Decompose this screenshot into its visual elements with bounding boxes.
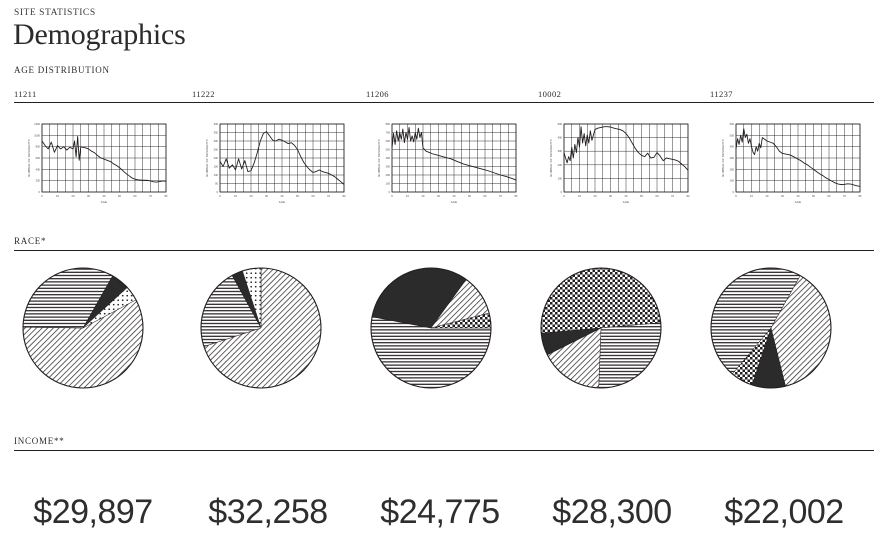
svg-text:70: 70 [843,194,846,198]
svg-text:40: 40 [625,194,628,198]
svg-text:70: 70 [671,194,674,198]
svg-text:0: 0 [219,194,221,198]
svg-text:0: 0 [735,194,737,198]
zip-header-1: 11222 [192,89,215,99]
income-value-10002: $28,300 [527,492,697,532]
svg-text:0: 0 [561,190,563,194]
svg-text:30: 30 [781,194,784,198]
divider-race [14,250,874,251]
svg-text:0: 0 [217,190,219,194]
svg-text:70: 70 [499,194,502,198]
income-value-11211: $29,897 [8,492,178,532]
section-label-race: RACE* [14,236,46,246]
svg-text:300: 300 [214,139,219,143]
svg-text:NUMBER OF RESIDENTS: NUMBER OF RESIDENTS [27,139,31,176]
zip-header-3: 10002 [538,89,561,99]
svg-text:20: 20 [422,194,425,198]
svg-text:50: 50 [215,182,218,186]
svg-text:80: 80 [343,194,346,198]
section-label-income: INCOME** [14,436,65,446]
income-value-11206: $24,775 [355,492,525,532]
svg-text:30: 30 [265,194,268,198]
svg-text:20: 20 [72,194,75,198]
svg-text:150: 150 [214,165,219,169]
svg-text:10: 10 [56,194,59,198]
demographics-page: SITE STATISTICS Demographics AGE DISTRIB… [0,0,888,555]
age-chart-11211: 02004006008001000120001020304050607080AG… [12,118,172,218]
svg-text:300: 300 [558,149,563,153]
svg-text:30: 30 [437,194,440,198]
svg-text:250: 250 [214,148,219,152]
svg-text:0: 0 [389,190,391,194]
race-pie-11206 [365,262,525,394]
svg-text:AGE: AGE [623,200,630,204]
svg-text:20: 20 [766,194,769,198]
svg-text:NUMBER OF RESIDENTS: NUMBER OF RESIDENTS [721,139,725,176]
svg-text:0: 0 [733,190,735,194]
svg-text:60: 60 [656,194,659,198]
svg-text:400: 400 [558,136,563,140]
svg-text:30: 30 [609,194,612,198]
zip-header-2: 11206 [366,89,389,99]
svg-text:10: 10 [234,194,237,198]
svg-text:100: 100 [730,179,735,183]
svg-text:300: 300 [730,156,735,160]
svg-text:200: 200 [386,173,391,177]
svg-text:80: 80 [165,194,168,198]
race-pie-10002 [535,262,695,394]
svg-text:200: 200 [214,156,219,160]
svg-text:800: 800 [386,122,391,126]
svg-text:NUMBER OF RESIDENTS: NUMBER OF RESIDENTS [205,139,209,176]
income-value-11222: $32,258 [183,492,353,532]
age-chart-11222: 0501001502002503003504000102030405060708… [190,118,350,218]
svg-text:60: 60 [828,194,831,198]
svg-text:50: 50 [640,194,643,198]
page-title: Demographics [13,18,186,52]
svg-text:AGE: AGE [795,200,802,204]
svg-text:70: 70 [149,194,152,198]
svg-text:AGE: AGE [101,200,108,204]
svg-text:500: 500 [558,122,563,126]
svg-text:50: 50 [812,194,815,198]
divider-income [14,450,874,451]
svg-text:50: 50 [118,194,121,198]
svg-text:300: 300 [386,165,391,169]
svg-text:80: 80 [515,194,518,198]
svg-text:700: 700 [386,131,391,135]
svg-text:500: 500 [386,148,391,152]
svg-text:100: 100 [386,182,391,186]
age-chart-11206: 0100200300400500600700800010203040506070… [362,118,522,218]
race-pie-11237 [705,262,865,394]
svg-text:0: 0 [41,194,43,198]
svg-text:600: 600 [36,156,41,160]
svg-text:AGE: AGE [451,200,458,204]
svg-text:30: 30 [87,194,90,198]
svg-text:80: 80 [859,194,862,198]
svg-text:40: 40 [797,194,800,198]
svg-text:40: 40 [281,194,284,198]
svg-text:NUMBER OF RESIDENTS: NUMBER OF RESIDENTS [377,139,381,176]
svg-text:800: 800 [36,145,41,149]
svg-text:600: 600 [730,122,735,126]
svg-text:400: 400 [36,167,41,171]
svg-text:50: 50 [468,194,471,198]
svg-text:0: 0 [391,194,393,198]
svg-text:60: 60 [484,194,487,198]
age-chart-11237: 010020030040050060001020304050607080AGEN… [706,118,866,218]
income-value-11237: $22,002 [699,492,869,532]
age-chart-10002: 010020030040050001020304050607080AGENUMB… [534,118,694,218]
svg-text:400: 400 [214,122,219,126]
race-pie-11211 [17,262,177,394]
svg-text:50: 50 [296,194,299,198]
svg-text:100: 100 [558,176,563,180]
svg-text:1200: 1200 [34,122,40,126]
svg-text:500: 500 [730,133,735,137]
svg-text:AGE: AGE [279,200,286,204]
svg-text:100: 100 [214,173,219,177]
svg-text:0: 0 [39,190,41,194]
divider-age [14,102,874,103]
svg-text:60: 60 [134,194,137,198]
svg-text:200: 200 [730,167,735,171]
zip-header-4: 11237 [710,89,733,99]
svg-text:10: 10 [578,194,581,198]
svg-text:400: 400 [730,145,735,149]
race-pie-11222 [195,262,355,394]
svg-text:20: 20 [594,194,597,198]
svg-text:600: 600 [386,139,391,143]
svg-text:NUMBER OF RESIDENTS: NUMBER OF RESIDENTS [549,139,553,176]
svg-text:40: 40 [103,194,106,198]
svg-text:10: 10 [750,194,753,198]
svg-text:200: 200 [36,179,41,183]
svg-text:20: 20 [250,194,253,198]
zip-header-0: 11211 [14,89,37,99]
svg-text:10: 10 [406,194,409,198]
section-label-age-distribution: AGE DISTRIBUTION [14,65,110,75]
svg-text:400: 400 [386,156,391,160]
svg-text:40: 40 [453,194,456,198]
svg-text:350: 350 [214,131,219,135]
svg-text:70: 70 [327,194,330,198]
svg-text:200: 200 [558,163,563,167]
svg-text:1000: 1000 [34,133,40,137]
page-kicker: SITE STATISTICS [14,8,96,18]
svg-text:60: 60 [312,194,315,198]
svg-text:80: 80 [687,194,690,198]
svg-text:0: 0 [563,194,565,198]
